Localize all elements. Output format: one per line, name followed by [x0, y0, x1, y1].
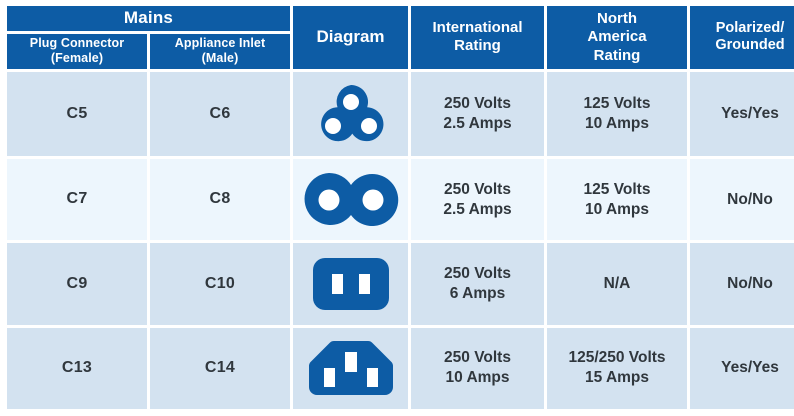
international-amps: 2.5 Amps	[415, 200, 540, 220]
cell-polarized-grounded: No/No	[690, 159, 794, 240]
cell-diagram	[293, 243, 408, 324]
cell-diagram	[293, 159, 408, 240]
cell-appliance-inlet: C14	[150, 328, 290, 409]
cell-polarized-grounded: Yes/Yes	[690, 328, 794, 409]
hexagonal-three-slot-connector-icon	[293, 328, 408, 409]
north-america-amps: 10 Amps	[551, 114, 683, 134]
cell-appliance-inlet: C8	[150, 159, 290, 240]
cell-international-rating: 250 Volts 2.5 Amps	[411, 72, 544, 156]
cell-international-rating: 250 Volts 6 Amps	[411, 243, 544, 324]
connector-reference-table: Mains Diagram International Rating North…	[4, 3, 794, 412]
north-america-amps: 10 Amps	[551, 200, 683, 220]
international-volts: 250 Volts	[415, 348, 540, 368]
header-polarized-grounded-line1: Polarized/	[694, 20, 794, 38]
header-row-top: Mains Diagram International Rating North…	[7, 6, 794, 31]
table-row: C5 C6 250 Volts 2.5 Amps	[7, 72, 794, 156]
cell-plug-connector: C9	[7, 243, 147, 324]
header-north-america-rating: North America Rating	[547, 6, 687, 69]
cell-north-america-rating: 125/250 Volts 15 Amps	[547, 328, 687, 409]
header-diagram: Diagram	[293, 6, 408, 69]
header-plug-connector-line1: Plug Connector	[11, 36, 143, 52]
cell-international-rating: 250 Volts 10 Amps	[411, 328, 544, 409]
table-header: Mains Diagram International Rating North…	[7, 6, 794, 69]
cell-plug-connector: C13	[7, 328, 147, 409]
table-body: C5 C6 250 Volts 2.5 Amps	[7, 72, 794, 409]
cell-polarized-grounded: No/No	[690, 243, 794, 324]
cell-north-america-rating: 125 Volts 10 Amps	[547, 159, 687, 240]
north-america-volts: N/A	[551, 274, 683, 294]
international-amps: 10 Amps	[415, 368, 540, 388]
header-international-rating-line2: Rating	[415, 37, 540, 55]
header-polarized-grounded: Polarized/ Grounded	[690, 6, 794, 69]
international-volts: 250 Volts	[415, 264, 540, 284]
header-north-america-rating-line3: Rating	[551, 47, 683, 65]
north-america-amps: 15 Amps	[551, 368, 683, 388]
rounded-rect-two-slot-connector-icon	[293, 243, 408, 324]
table-row: C13 C14 250 Volts 10 Amps	[7, 328, 794, 409]
international-amps: 6 Amps	[415, 284, 540, 304]
figure-eight-connector-icon	[293, 159, 408, 240]
cloverleaf-connector-icon	[293, 72, 408, 156]
table-row: C7 C8 250 Volts 2.5 Amps	[7, 159, 794, 240]
north-america-volts: 125/250 Volts	[551, 348, 683, 368]
international-volts: 250 Volts	[415, 180, 540, 200]
cell-international-rating: 250 Volts 2.5 Amps	[411, 159, 544, 240]
header-plug-connector-line2: (Female)	[11, 51, 143, 67]
cell-appliance-inlet: C10	[150, 243, 290, 324]
header-appliance-inlet-line1: Appliance Inlet	[154, 36, 286, 52]
header-appliance-inlet: Appliance Inlet (Male)	[150, 34, 290, 69]
cell-plug-connector: C7	[7, 159, 147, 240]
header-north-america-rating-line1: North	[551, 10, 683, 28]
header-international-rating-line1: International	[415, 19, 540, 37]
header-mains-group: Mains	[7, 6, 290, 31]
header-appliance-inlet-line2: (Male)	[154, 51, 286, 67]
cell-diagram	[293, 328, 408, 409]
connector-reference-table-container: Mains Diagram International Rating North…	[0, 0, 794, 416]
north-america-volts: 125 Volts	[551, 94, 683, 114]
north-america-volts: 125 Volts	[551, 180, 683, 200]
header-polarized-grounded-line2: Grounded	[694, 37, 794, 55]
cell-north-america-rating: N/A	[547, 243, 687, 324]
header-plug-connector: Plug Connector (Female)	[7, 34, 147, 69]
table-row: C9 C10 250 Volts 6 Amps	[7, 243, 794, 324]
header-north-america-rating-line2: America	[551, 28, 683, 46]
cell-polarized-grounded: Yes/Yes	[690, 72, 794, 156]
international-amps: 2.5 Amps	[415, 114, 540, 134]
international-volts: 250 Volts	[415, 94, 540, 114]
cell-plug-connector: C5	[7, 72, 147, 156]
cell-appliance-inlet: C6	[150, 72, 290, 156]
cell-diagram	[293, 72, 408, 156]
header-international-rating: International Rating	[411, 6, 544, 69]
cell-north-america-rating: 125 Volts 10 Amps	[547, 72, 687, 156]
